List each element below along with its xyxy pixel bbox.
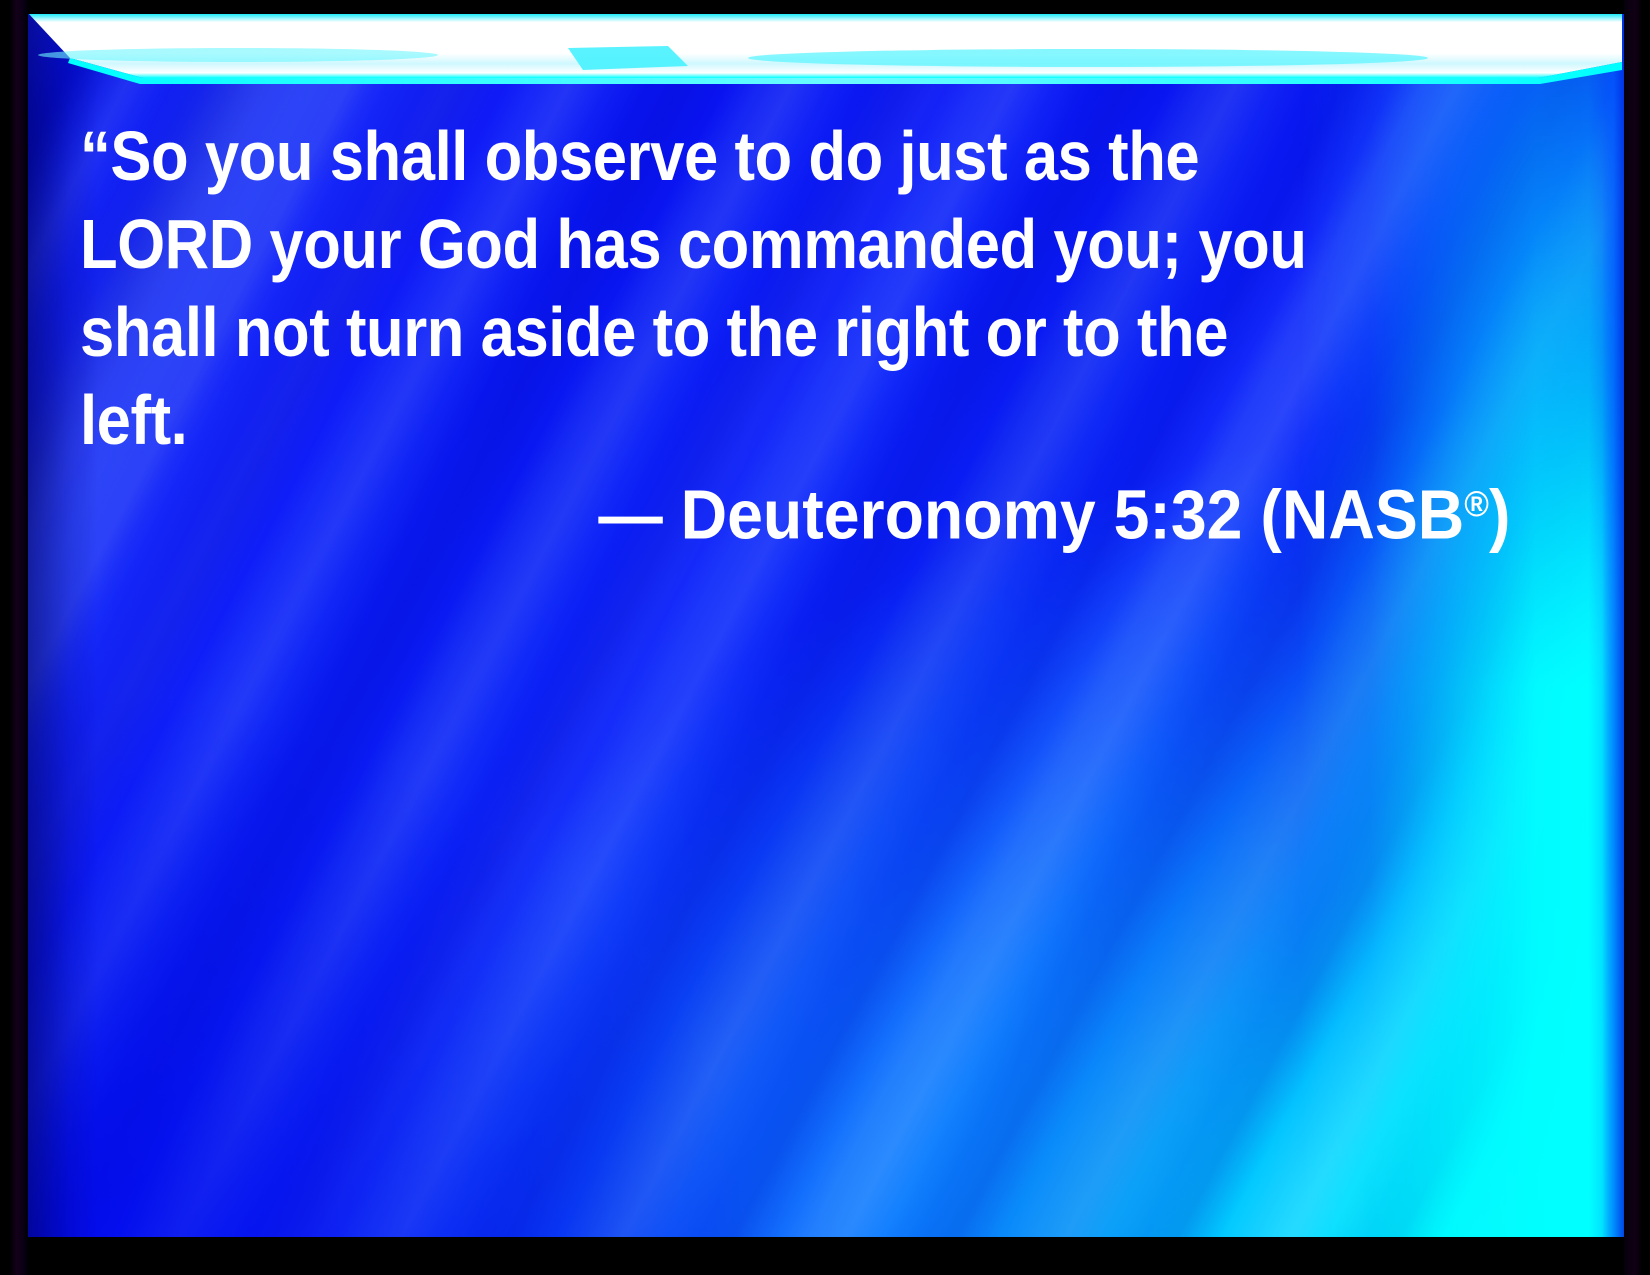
frame-border-right <box>1628 0 1650 1275</box>
verse-attribution: — Deuteronomy 5:32 (NASB®) <box>80 460 1510 559</box>
top-banner <box>28 0 1622 86</box>
verse-line-2: LORD your God has commanded you; you <box>80 200 1330 288</box>
bottom-left-shadow <box>28 677 928 1237</box>
frame-border-bottom <box>0 1237 1650 1275</box>
attribution-reference: 5:32 <box>1113 476 1242 554</box>
attribution-inner: — Deuteronomy 5:32 (NASB®) <box>598 460 1510 559</box>
attribution-book: Deuteronomy <box>680 476 1095 554</box>
frame-border-left <box>0 0 28 1275</box>
attribution-translation-open: (NASB <box>1260 476 1464 554</box>
banner-wisp-right <box>748 49 1428 67</box>
attribution-translation-close: ) <box>1489 476 1510 554</box>
verse-line-4: left. <box>80 376 1330 464</box>
banner-body <box>28 13 1622 78</box>
verse-line-3: shall not turn aside to the right or to … <box>80 288 1330 376</box>
banner-wisp-center <box>568 46 688 70</box>
top-banner-shape <box>28 0 1622 86</box>
registered-trademark-icon: ® <box>1464 483 1489 524</box>
right-edge-line <box>1602 14 1628 1237</box>
verse-text-block: “So you shall observe to do just as the … <box>80 112 1500 464</box>
frame-seam-left <box>10 0 28 1275</box>
banner-wisp-left <box>38 48 438 62</box>
verse-line-1: “So you shall observe to do just as the <box>80 112 1330 200</box>
attribution-dash: — <box>598 476 662 554</box>
banner-top-rule <box>28 8 1622 13</box>
bible-verse-slide: “So you shall observe to do just as the … <box>0 0 1650 1275</box>
